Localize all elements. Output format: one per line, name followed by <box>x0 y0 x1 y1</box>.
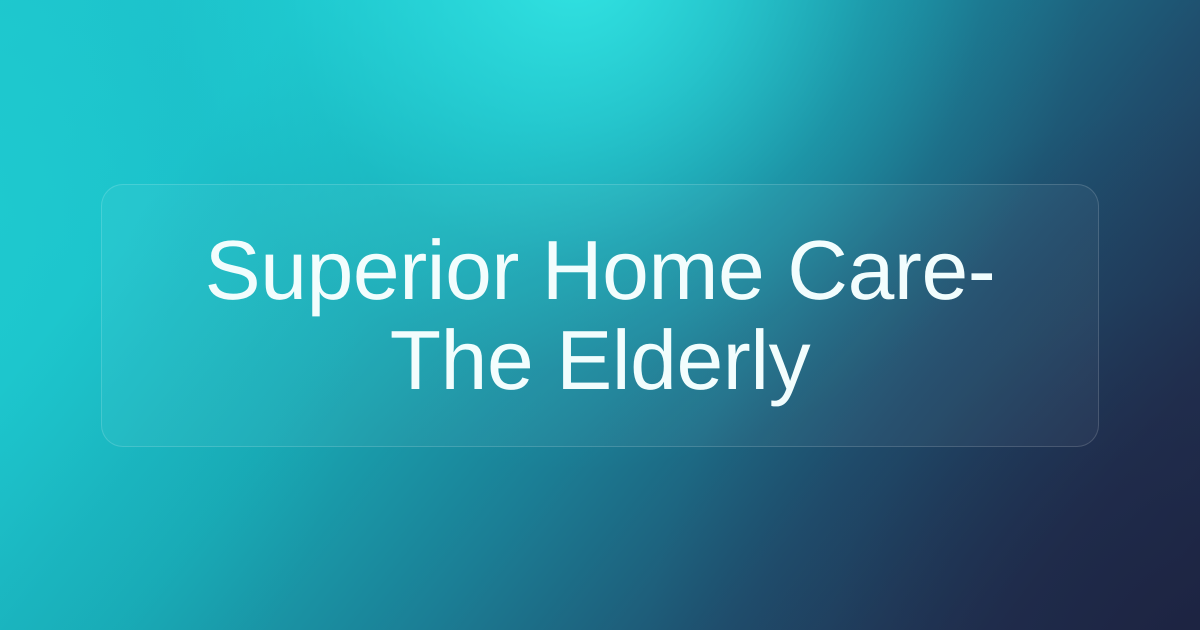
page-title: Superior Home Care- The Elderly <box>205 225 996 405</box>
share-card-canvas: Superior Home Care- The Elderly <box>0 0 1200 630</box>
title-card-panel: Superior Home Care- The Elderly <box>101 184 1099 447</box>
